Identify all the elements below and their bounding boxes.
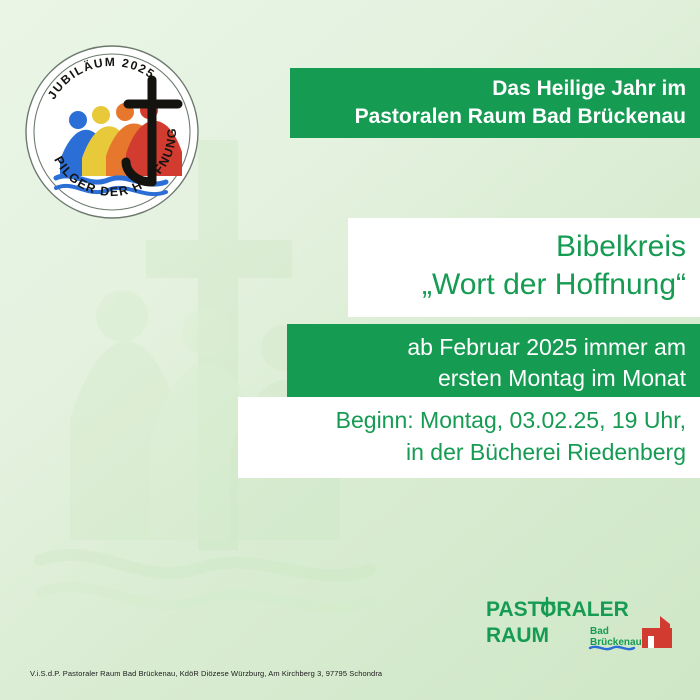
title-line-2: „Wort der Hoffnung“ [364,266,686,304]
details-line-2: in der Bücherei Riedenberg [254,437,686,469]
schedule-line-1: ab Februar 2025 immer am [303,332,686,363]
schedule-block: ab Februar 2025 immer am ersten Montag i… [287,324,700,404]
schedule-line-2: ersten Montag im Monat [303,363,686,394]
brand-lockup: PASTORALER RAUM Bad Brückenau [484,594,684,656]
footer-imprint: V.i.S.d.P. Pastoraler Raum Bad Brückenau… [30,669,382,678]
poster-canvas: JUBILÄUM 2025 PILGER DER HOFFNUNG Das He… [0,0,700,700]
title-line-1: Bibelkreis [364,228,686,266]
brand-line-2-text: RAUM [486,624,549,647]
header-band: Das Heilige Jahr im Pastoralen Raum Bad … [290,68,700,138]
title-block: Bibelkreis „Wort der Hoffnung“ [348,218,700,317]
header-line-1: Das Heilige Jahr im [492,75,686,103]
header-line-2: Pastoralen Raum Bad Brückenau [355,103,686,131]
details-block: Beginn: Montag, 03.02.25, 19 Uhr, in der… [238,397,700,478]
svg-text:Bad: Bad [590,626,609,637]
jubilee-logo: JUBILÄUM 2025 PILGER DER HOFFNUNG [22,42,202,222]
brand-line-1-text: PASTORALER [486,598,629,621]
details-line-1: Beginn: Montag, 03.02.25, 19 Uhr, [254,405,686,437]
